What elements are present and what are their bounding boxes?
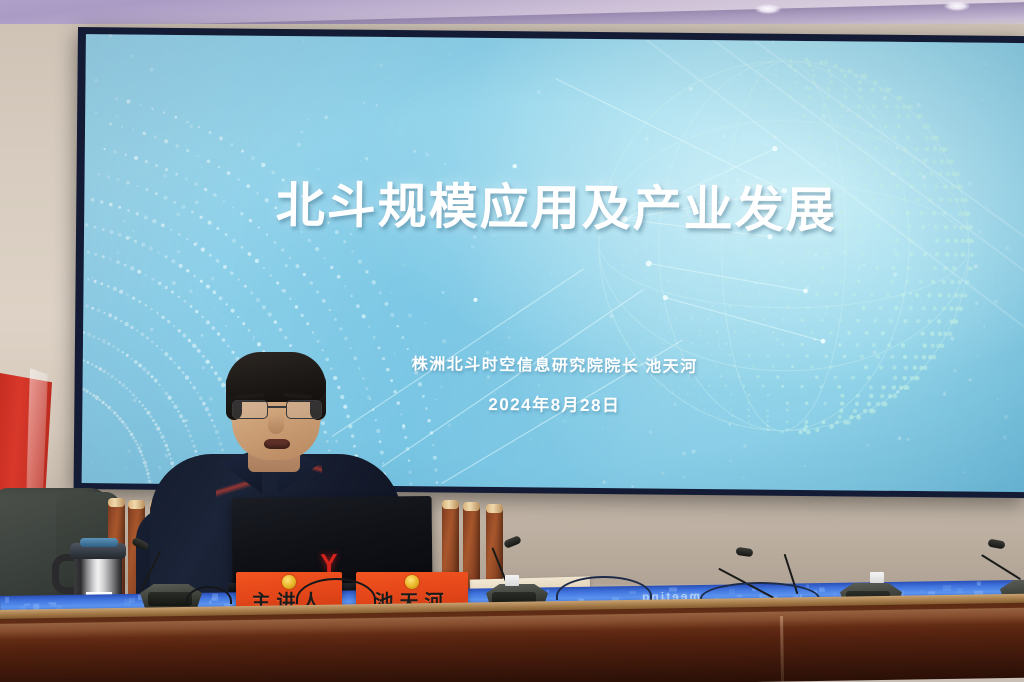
wooden-chair-cap: [442, 500, 459, 509]
wooden-chair-cap: [108, 498, 125, 507]
wooden-chair-cap: [128, 500, 145, 509]
microphone-id-tag: [870, 572, 884, 583]
eyeglass-bridge: [268, 406, 286, 408]
ceiling-downlight: [755, 4, 781, 14]
eyeglass-lens: [286, 400, 322, 419]
eyeglass-lens: [232, 400, 268, 419]
wooden-chair-cap: [486, 504, 503, 513]
wooden-chair-cap: [463, 502, 480, 511]
presentation-photo-scene: 北斗规模应用及产业发展 株洲北斗时空信息研究院院长 池天河 2024年8月28日: [0, 0, 1024, 682]
microphone-id-tag: [505, 575, 519, 586]
presenter-nose: [268, 414, 284, 434]
slide-title: 北斗规模应用及产业发展: [84, 164, 1024, 244]
thermos-lid: [80, 538, 118, 547]
presenter-mouth: [264, 439, 290, 449]
ceiling-downlight: [944, 1, 970, 11]
